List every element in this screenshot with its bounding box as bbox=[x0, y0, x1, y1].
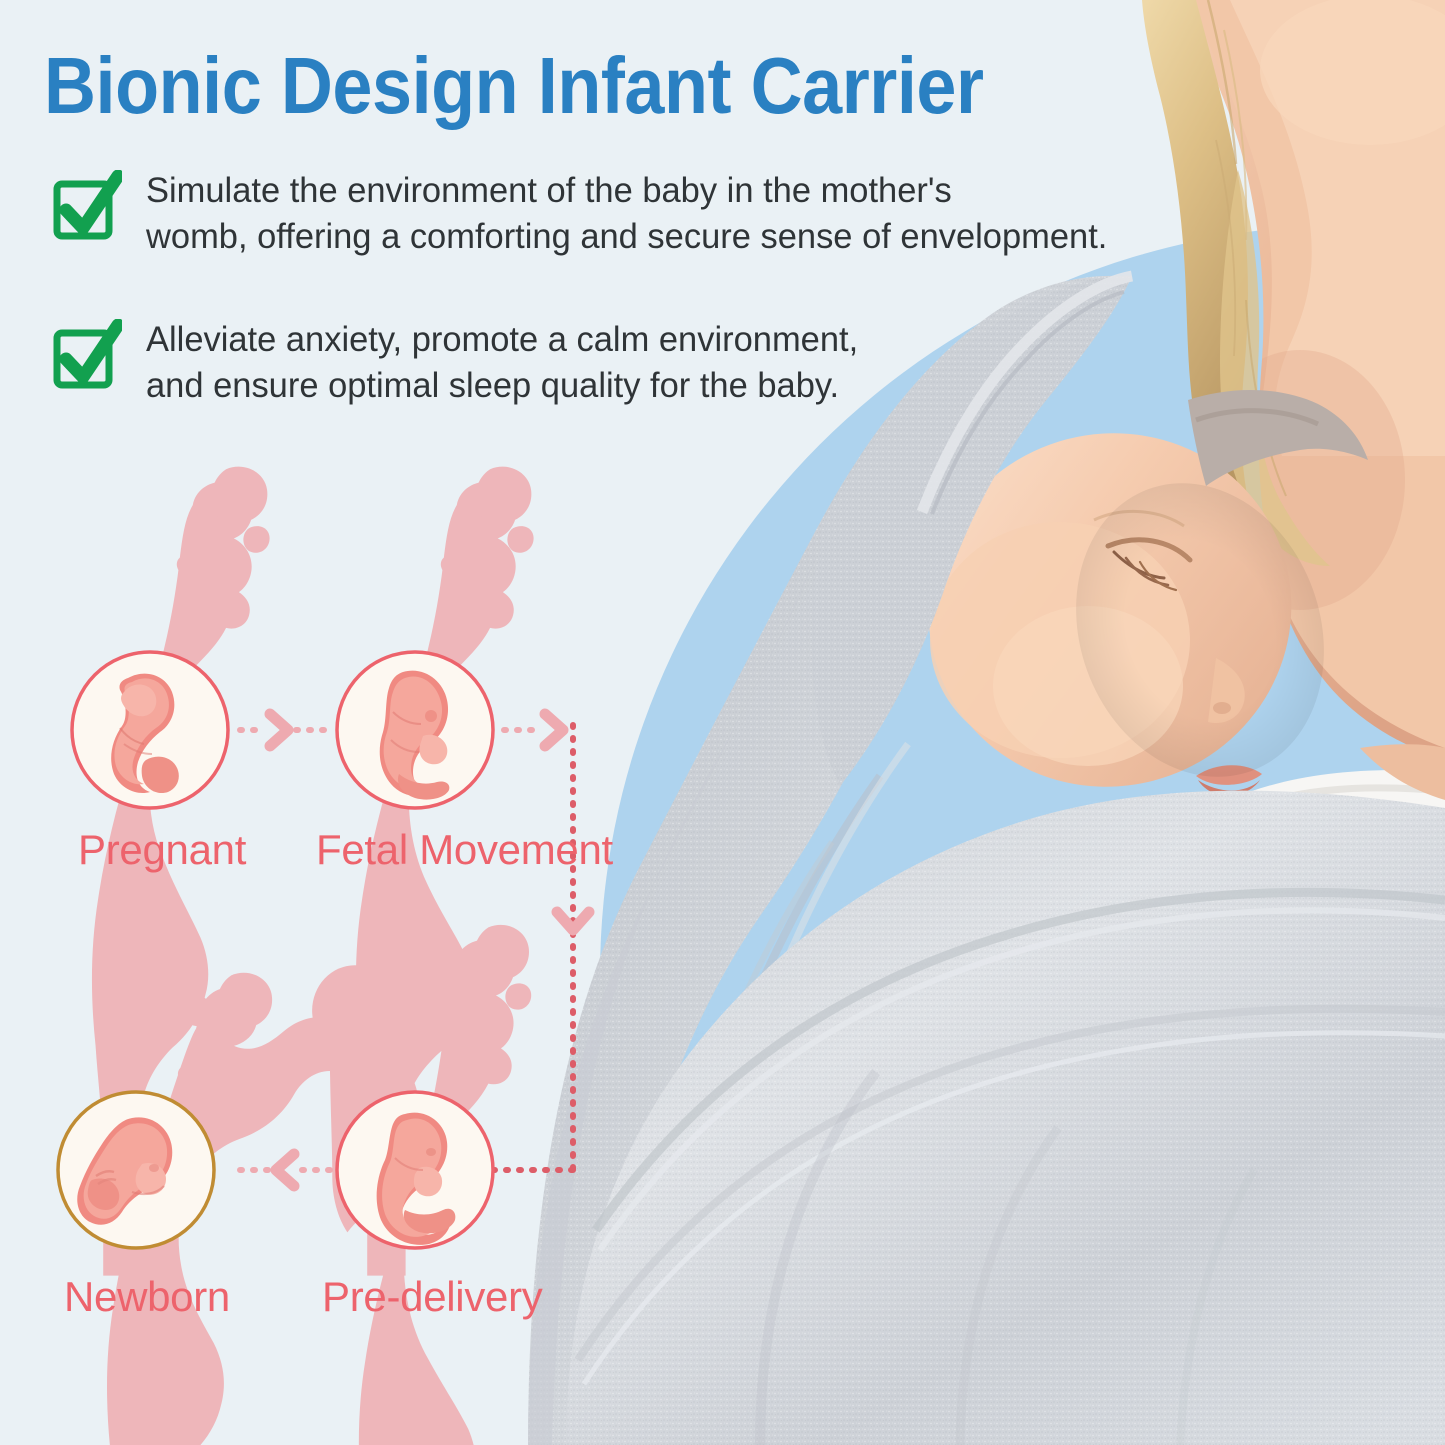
bullet-line: and ensure optimal sleep quality for the… bbox=[146, 363, 858, 409]
list-item: Alleviate anxiety, promote a calm enviro… bbox=[52, 317, 1122, 408]
stage-label-fetal-movement: Fetal Movement bbox=[316, 826, 613, 874]
stage-label-newborn: Newborn bbox=[64, 1273, 230, 1321]
product-feature-banner: Bionic Design Infant Carrier Simulate th… bbox=[0, 0, 1445, 1445]
page-title: Bionic Design Infant Carrier bbox=[44, 46, 984, 126]
checkbox-check-icon bbox=[52, 319, 122, 393]
pregnancy-stage-flow-diagram bbox=[0, 470, 640, 1360]
bullet-text: Simulate the environment of the baby in … bbox=[146, 168, 1107, 259]
bullet-line: womb, offering a comforting and secure s… bbox=[146, 214, 1107, 260]
stage-label-pre-delivery: Pre-delivery bbox=[322, 1273, 542, 1321]
bullet-line: Alleviate anxiety, promote a calm enviro… bbox=[146, 317, 858, 363]
list-item: Simulate the environment of the baby in … bbox=[52, 168, 1122, 259]
bullet-text: Alleviate anxiety, promote a calm enviro… bbox=[146, 317, 858, 408]
checkbox-check-icon bbox=[52, 170, 122, 244]
bullet-line: Simulate the environment of the baby in … bbox=[146, 168, 1107, 214]
feature-bullet-list: Simulate the environment of the baby in … bbox=[52, 168, 1122, 466]
stage-label-pregnant: Pregnant bbox=[78, 826, 246, 874]
